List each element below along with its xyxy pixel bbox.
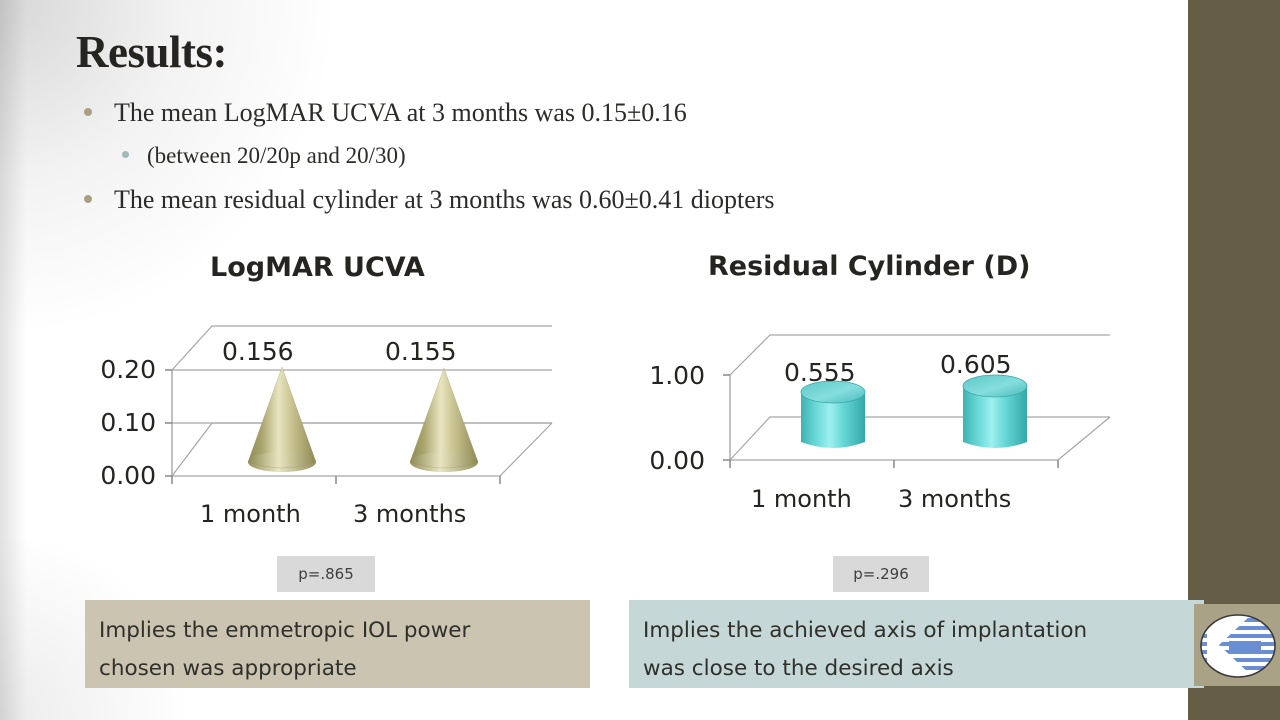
page-title: Results: [76, 26, 227, 78]
bullet-marker-icon [84, 108, 92, 116]
left-caption-line-2: chosen was appropriate [99, 650, 590, 688]
bullet-text: The mean residual cylinder at 3 months w… [114, 185, 775, 215]
data-cylinder-1 [801, 381, 865, 448]
left-chart-data-label-2: 0.155 [385, 337, 457, 366]
right-caption-line-1: Implies the achieved axis of implantatio… [643, 612, 1204, 650]
left-chart-ytick-0.10: 0.10 [86, 408, 156, 437]
right-chart-ytick-0.00: 0.00 [620, 446, 705, 475]
right-conclusion-callout: Implies the achieved axis of implantatio… [629, 600, 1204, 688]
left-chart-data-label-1: 0.156 [222, 337, 294, 366]
right-chart-ytick-1.00: 1.00 [620, 361, 705, 390]
data-cylinder-2 [963, 375, 1027, 448]
bullet-text: (between 20/20p and 20/30) [147, 143, 406, 169]
data-cone-2 [410, 368, 478, 472]
right-chart-data-label-2: 0.605 [940, 350, 1012, 379]
left-caption-line-1: Implies the emmetropic IOL power [99, 612, 590, 650]
right-chart-data-label-1: 0.555 [784, 358, 856, 387]
background-gradient-left [0, 0, 26, 720]
left-chart-category-1: 1 month [200, 500, 301, 528]
left-chart-pvalue-badge: p=.865 [277, 556, 375, 592]
bullet-text: The mean LogMAR UCVA at 3 months was 0.1… [114, 98, 687, 128]
bullet-item-1: The mean LogMAR UCVA at 3 months was 0.1… [84, 98, 687, 128]
right-chart-category-2: 3 months [898, 485, 1011, 513]
institution-logo-icon [1199, 613, 1277, 679]
right-chart-pvalue-badge: p=.296 [833, 556, 929, 592]
left-conclusion-callout: Implies the emmetropic IOL power chosen … [85, 600, 590, 688]
bullet-marker-icon [122, 151, 129, 158]
data-cone-1 [248, 367, 316, 472]
left-chart-category-2: 3 months [353, 500, 466, 528]
right-chart-category-1: 1 month [751, 485, 852, 513]
left-chart-ytick-0.20: 0.20 [86, 355, 156, 384]
bullet-item-3: The mean residual cylinder at 3 months w… [84, 185, 775, 215]
right-caption-line-2: was close to the desired axis [643, 650, 1204, 688]
left-chart-title: LogMAR UCVA [210, 252, 425, 283]
bullet-item-2: (between 20/20p and 20/30) [122, 143, 406, 169]
right-chart-title: Residual Cylinder (D) [708, 251, 1030, 282]
right-chart-3d-cylinder-plot [620, 320, 1120, 520]
bullet-marker-icon [84, 195, 92, 203]
left-chart-ytick-0.00: 0.00 [86, 461, 156, 490]
slide-canvas: Results: The mean LogMAR UCVA at 3 month… [0, 0, 1280, 720]
